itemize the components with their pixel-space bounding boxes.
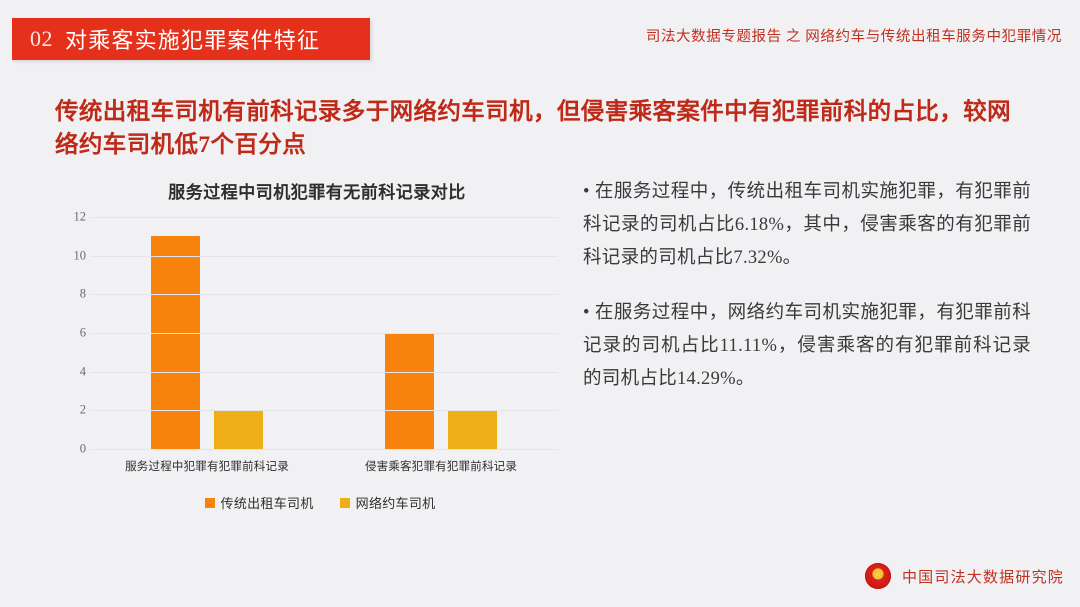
x-axis-label: 侵害乘客犯罪有犯罪前科记录 [365, 458, 517, 474]
y-axis-tick: 12 [74, 210, 87, 225]
bar-chart: 服务过程中司机犯罪有无前科记录对比 024681012 服务过程中犯罪有犯罪前科… [52, 178, 564, 528]
gridline [90, 294, 558, 295]
section-number: 02 [30, 26, 53, 52]
y-axis-tick: 4 [80, 364, 86, 379]
x-axis-label: 服务过程中犯罪有犯罪前科记录 [125, 458, 289, 474]
national-emblem-icon [865, 563, 891, 589]
report-subtitle: 司法大数据专题报告 之 网络约车与传统出租车服务中犯罪情况 [646, 25, 1062, 46]
bullet-marker: • [583, 303, 595, 323]
section-banner: 02 对乘客实施犯罪案件特征 [12, 18, 370, 60]
legend-swatch [205, 498, 215, 508]
gridline [90, 333, 558, 334]
legend-item[interactable]: 网络约车司机 [340, 493, 436, 512]
analysis-bullet-list: • 在服务过程中，传统出租车司机实施犯罪，有犯罪前科记录的司机占比6.18%，其… [583, 176, 1031, 418]
page-headline: 传统出租车司机有前科记录多于网络约车司机，但侵害乘客案件中有犯罪前科的占比，较网… [55, 96, 1015, 162]
section-title: 对乘客实施犯罪案件特征 [65, 23, 320, 55]
gridline [90, 410, 558, 411]
chart-bar [151, 236, 200, 449]
analysis-bullet: • 在服务过程中，网络约车司机实施犯罪，有犯罪前科记录的司机占比11.11%，侵… [583, 297, 1031, 396]
chart-title: 服务过程中司机犯罪有无前科记录对比 [52, 178, 564, 203]
chart-bar [385, 333, 434, 449]
gridline [90, 217, 558, 218]
y-axis-tick: 2 [80, 403, 86, 418]
chart-bar [448, 410, 497, 449]
y-axis: 024681012 [56, 217, 86, 449]
bullet-marker: • [583, 182, 595, 202]
legend-label: 网络约车司机 [356, 493, 436, 512]
legend-label: 传统出租车司机 [221, 493, 314, 512]
bullet-text: 在服务过程中，网络约车司机实施犯罪，有犯罪前科记录的司机占比11.11%，侵害乘… [583, 303, 1031, 389]
legend-swatch [340, 498, 350, 508]
y-axis-tick: 0 [80, 442, 86, 457]
analysis-bullet: • 在服务过程中，传统出租车司机实施犯罪，有犯罪前科记录的司机占比6.18%，其… [583, 176, 1031, 275]
chart-plot-wrapper: 024681012 [90, 217, 558, 449]
footer: 中国司法大数据研究院 [865, 563, 1064, 589]
y-axis-tick: 6 [80, 326, 86, 341]
chart-legend: 传统出租车司机网络约车司机 [52, 493, 564, 512]
x-axis: 服务过程中犯罪有犯罪前科记录侵害乘客犯罪有犯罪前科记录 [90, 449, 558, 475]
bullet-text: 在服务过程中，传统出租车司机实施犯罪，有犯罪前科记录的司机占比6.18%，其中，… [583, 182, 1031, 268]
gridline [90, 372, 558, 373]
y-axis-tick: 8 [80, 287, 86, 302]
chart-bar [214, 410, 263, 449]
organization-name: 中国司法大数据研究院 [902, 566, 1064, 587]
legend-item[interactable]: 传统出租车司机 [205, 493, 314, 512]
gridline [90, 256, 558, 257]
y-axis-tick: 10 [74, 248, 87, 263]
chart-plot-area [90, 217, 558, 449]
